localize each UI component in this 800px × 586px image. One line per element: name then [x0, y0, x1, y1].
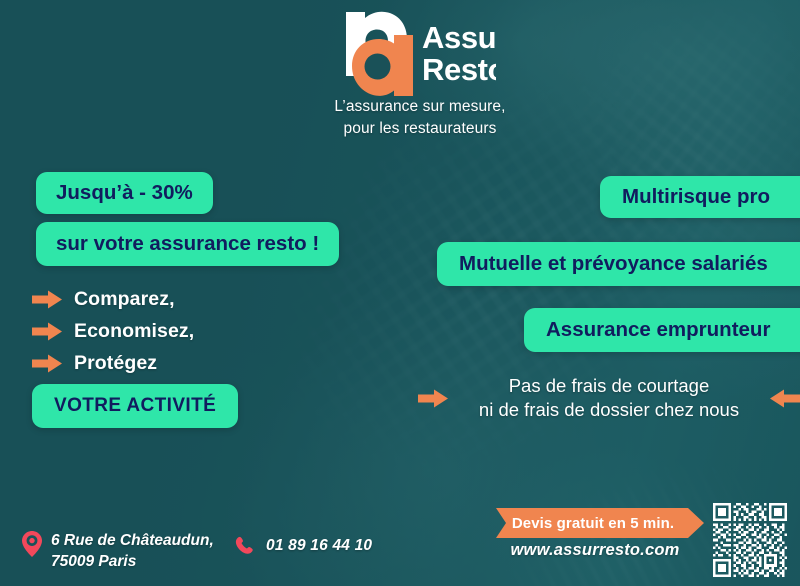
no-fees-text: Pas de frais de courtage ni de frais de … [448, 374, 770, 421]
address-line-1: 6 Rue de Châteaudun, [51, 530, 214, 551]
address-line-2: 75009 Paris [51, 551, 214, 572]
product-badge-assurance-emprunteur[interactable]: Assurance emprunteur [524, 308, 800, 352]
location-pin-icon [22, 531, 42, 557]
address-text: 6 Rue de Châteaudun, 75009 Paris [51, 530, 214, 572]
no-fees-line-1: Pas de frais de courtage [448, 374, 770, 398]
tagline-line-2: pour les restaurateurs [270, 118, 570, 140]
arrow-right-icon [32, 354, 62, 373]
arrow-right-icon [32, 322, 62, 341]
list-item: Comparez, [32, 284, 194, 314]
votre-activite-button[interactable]: VOTRE ACTIVITÉ [32, 384, 238, 428]
logo-wordmark-assur: Assur [422, 20, 496, 55]
list-item: Economisez, [32, 316, 194, 346]
product-badge-label: Multirisque pro [622, 185, 770, 209]
list-item: Protégez [32, 348, 194, 378]
no-fees-block: Pas de frais de courtage ni de frais de … [418, 374, 800, 422]
no-fees-line-2: ni de frais de dossier chez nous [448, 398, 770, 422]
logo-wordmark-resto: Resto [422, 52, 496, 87]
cta-label: Devis gratuit en 5 min. [496, 508, 704, 538]
votre-activite-label: VOTRE ACTIVITÉ [54, 395, 216, 417]
benefits-list: Comparez, Economisez, Protégez [32, 284, 194, 380]
benefit-label: Comparez, [74, 288, 175, 311]
website-url[interactable]: www.assurresto.com [496, 541, 694, 560]
product-badge-label: Mutuelle et prévoyance salariés [459, 252, 768, 276]
arrow-right-icon [418, 389, 448, 408]
poster-canvas: Assur Resto L’assurance sur mesure, pour… [0, 0, 800, 586]
arrow-left-icon [770, 389, 800, 408]
assur-resto-logo: Assur Resto [336, 4, 496, 96]
product-badge-multirisque-pro[interactable]: Multirisque pro [600, 176, 800, 218]
discount-badge-line-2-label: sur votre assurance resto ! [56, 232, 319, 256]
tagline-line-1: L’assurance sur mesure, [270, 96, 570, 118]
footer-address: 6 Rue de Châteaudun, 75009 Paris [22, 530, 214, 572]
tagline: L’assurance sur mesure, pour les restaur… [270, 96, 570, 140]
discount-badge-line-2: sur votre assurance resto ! [36, 222, 339, 266]
cta-banner[interactable]: Devis gratuit en 5 min. [496, 508, 704, 538]
discount-badge-line-1-label: Jusqu’à - 30% [56, 181, 193, 205]
product-badge-label: Assurance emprunteur [546, 318, 770, 342]
qr-code-icon[interactable] [713, 503, 787, 577]
arrow-right-icon [32, 290, 62, 309]
footer-phone[interactable]: 01 89 16 44 10 [234, 535, 372, 556]
product-badge-mutuelle-prevoyance[interactable]: Mutuelle et prévoyance salariés [437, 242, 800, 286]
phone-number: 01 89 16 44 10 [266, 537, 372, 555]
benefit-label: Economisez, [74, 320, 194, 343]
benefit-label: Protégez [74, 352, 157, 375]
discount-badge-line-1: Jusqu’à - 30% [36, 172, 213, 214]
phone-icon [234, 535, 255, 556]
